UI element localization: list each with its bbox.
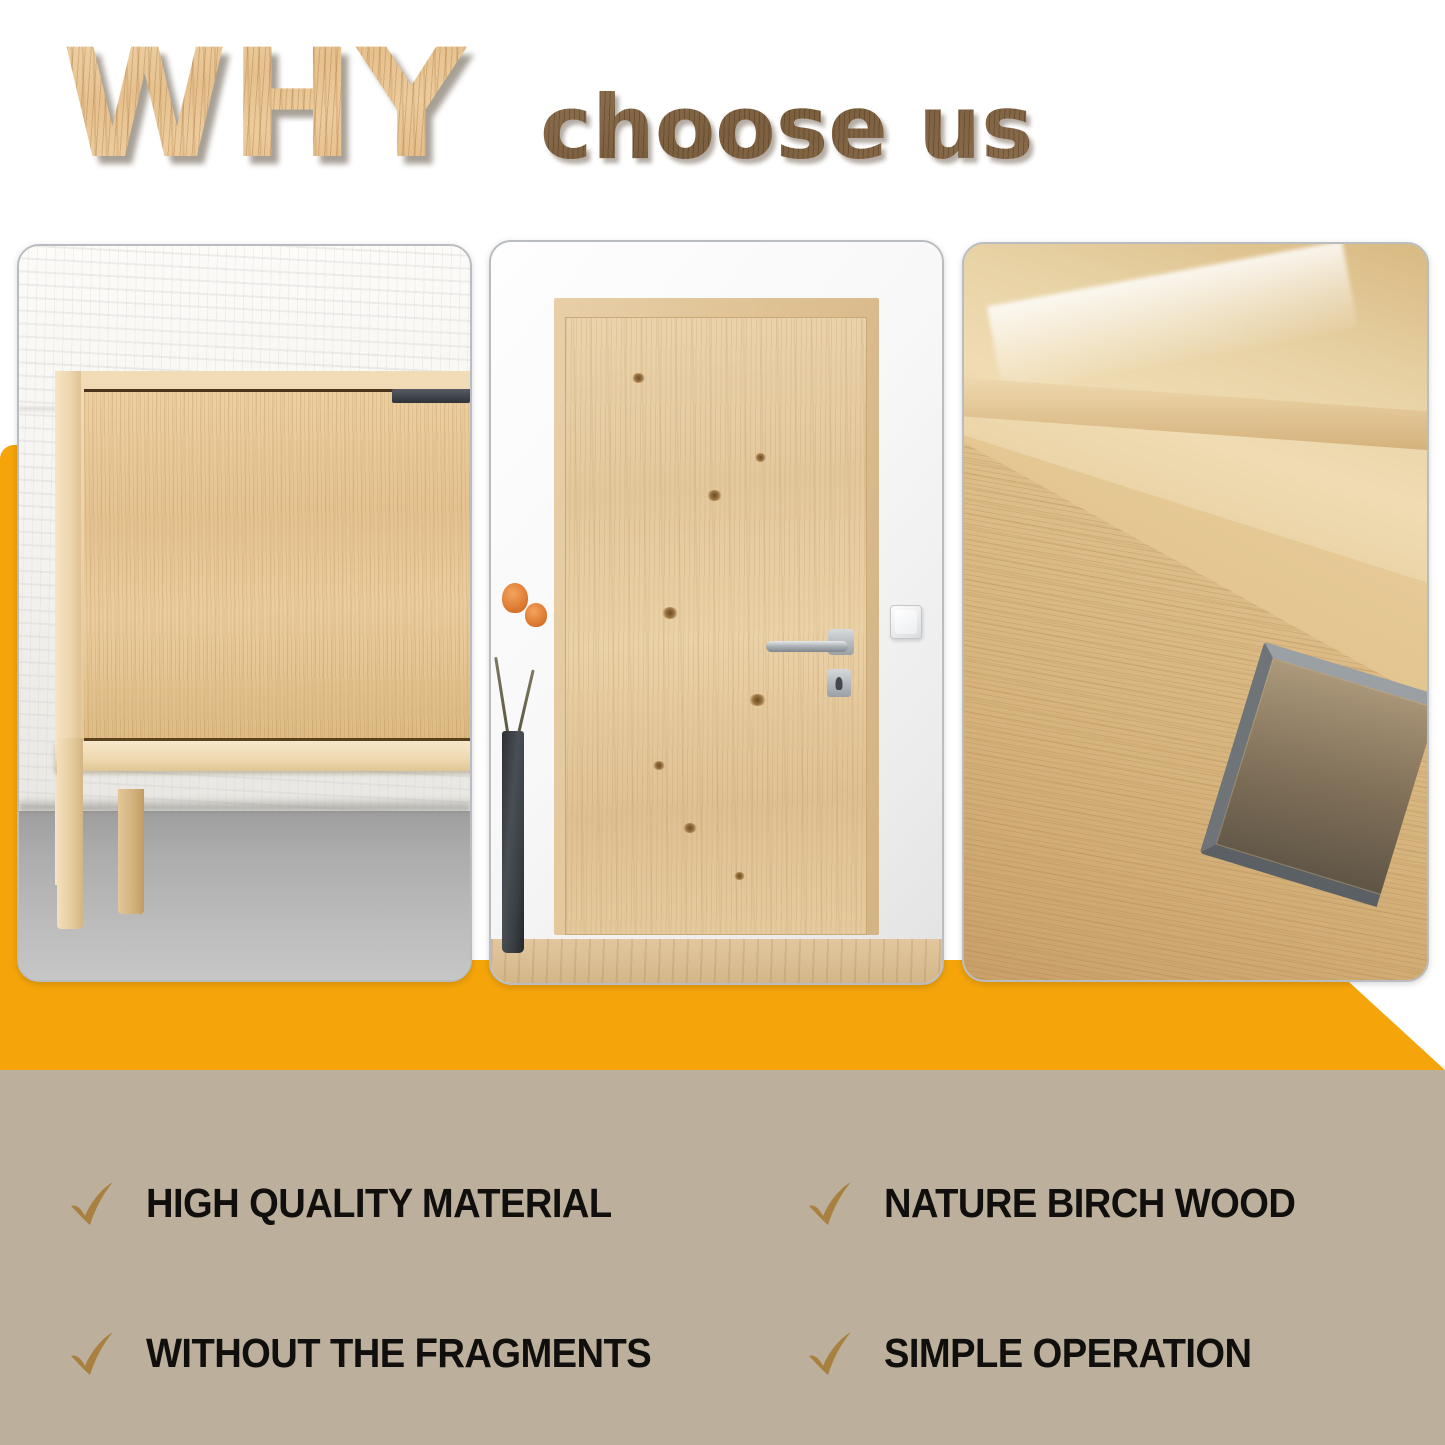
photo-card-door <box>489 240 944 985</box>
photo-card-cabinet <box>17 244 472 982</box>
feature-label: SIMPLE OPERATION <box>884 1330 1251 1377</box>
check-icon <box>804 1175 860 1231</box>
wood-knot-icon <box>755 453 766 462</box>
door-keyhole-escutcheon <box>827 669 851 697</box>
cabinet-floor-shadow <box>19 797 470 811</box>
photo-gallery <box>0 240 1445 985</box>
feature-item-without-the-fragments: WITHOUT THE FRAGMENTS <box>0 1325 790 1381</box>
check-icon <box>804 1325 860 1381</box>
cabinet-bar-handle <box>392 389 470 403</box>
floor-vase <box>502 731 524 953</box>
features-panel: HIGH QUALITY MATERIAL NATURE BIRCH WOOD … <box>0 1070 1445 1445</box>
door-casing-frame <box>554 298 879 935</box>
cabinet-leg-back <box>118 789 144 914</box>
cabinet-concrete-floor <box>19 811 470 980</box>
heading-choose-us: choose us <box>540 84 1033 172</box>
feature-label: WITHOUT THE FRAGMENTS <box>146 1330 651 1377</box>
photo-card-drawer-handle <box>962 242 1429 982</box>
wood-knot-icon <box>653 761 665 770</box>
wall-light-switch <box>890 605 922 639</box>
check-icon <box>66 1325 122 1381</box>
cabinet-apron-rail <box>55 741 472 771</box>
cabinet-door-panel <box>84 389 472 741</box>
poppy-flower-icon <box>525 603 547 627</box>
feature-item-high-quality-material: HIGH QUALITY MATERIAL <box>0 1175 790 1231</box>
feature-item-nature-birch-wood: NATURE BIRCH WOOD <box>790 1175 1445 1231</box>
door-leaf-panel <box>565 317 867 935</box>
feature-label: NATURE BIRCH WOOD <box>884 1180 1295 1227</box>
wood-knot-icon <box>662 607 678 619</box>
feature-label: HIGH QUALITY MATERIAL <box>146 1180 612 1227</box>
door-lever-handle <box>766 641 848 652</box>
wood-knot-icon <box>632 373 645 383</box>
heading-why: WHY <box>62 30 468 180</box>
feature-item-simple-operation: SIMPLE OPERATION <box>790 1325 1445 1381</box>
features-grid: HIGH QUALITY MATERIAL NATURE BIRCH WOOD … <box>0 1128 1445 1428</box>
wood-knot-icon <box>683 823 697 833</box>
wood-knot-icon <box>734 872 745 880</box>
wood-knot-icon <box>749 694 766 706</box>
cabinet-leg-front <box>57 738 83 929</box>
check-icon <box>66 1175 122 1231</box>
wood-knot-icon <box>707 490 722 501</box>
page-header: WHY choose us <box>0 0 1445 230</box>
door-wood-floor <box>491 939 942 983</box>
poppy-flower-icon <box>502 583 528 613</box>
